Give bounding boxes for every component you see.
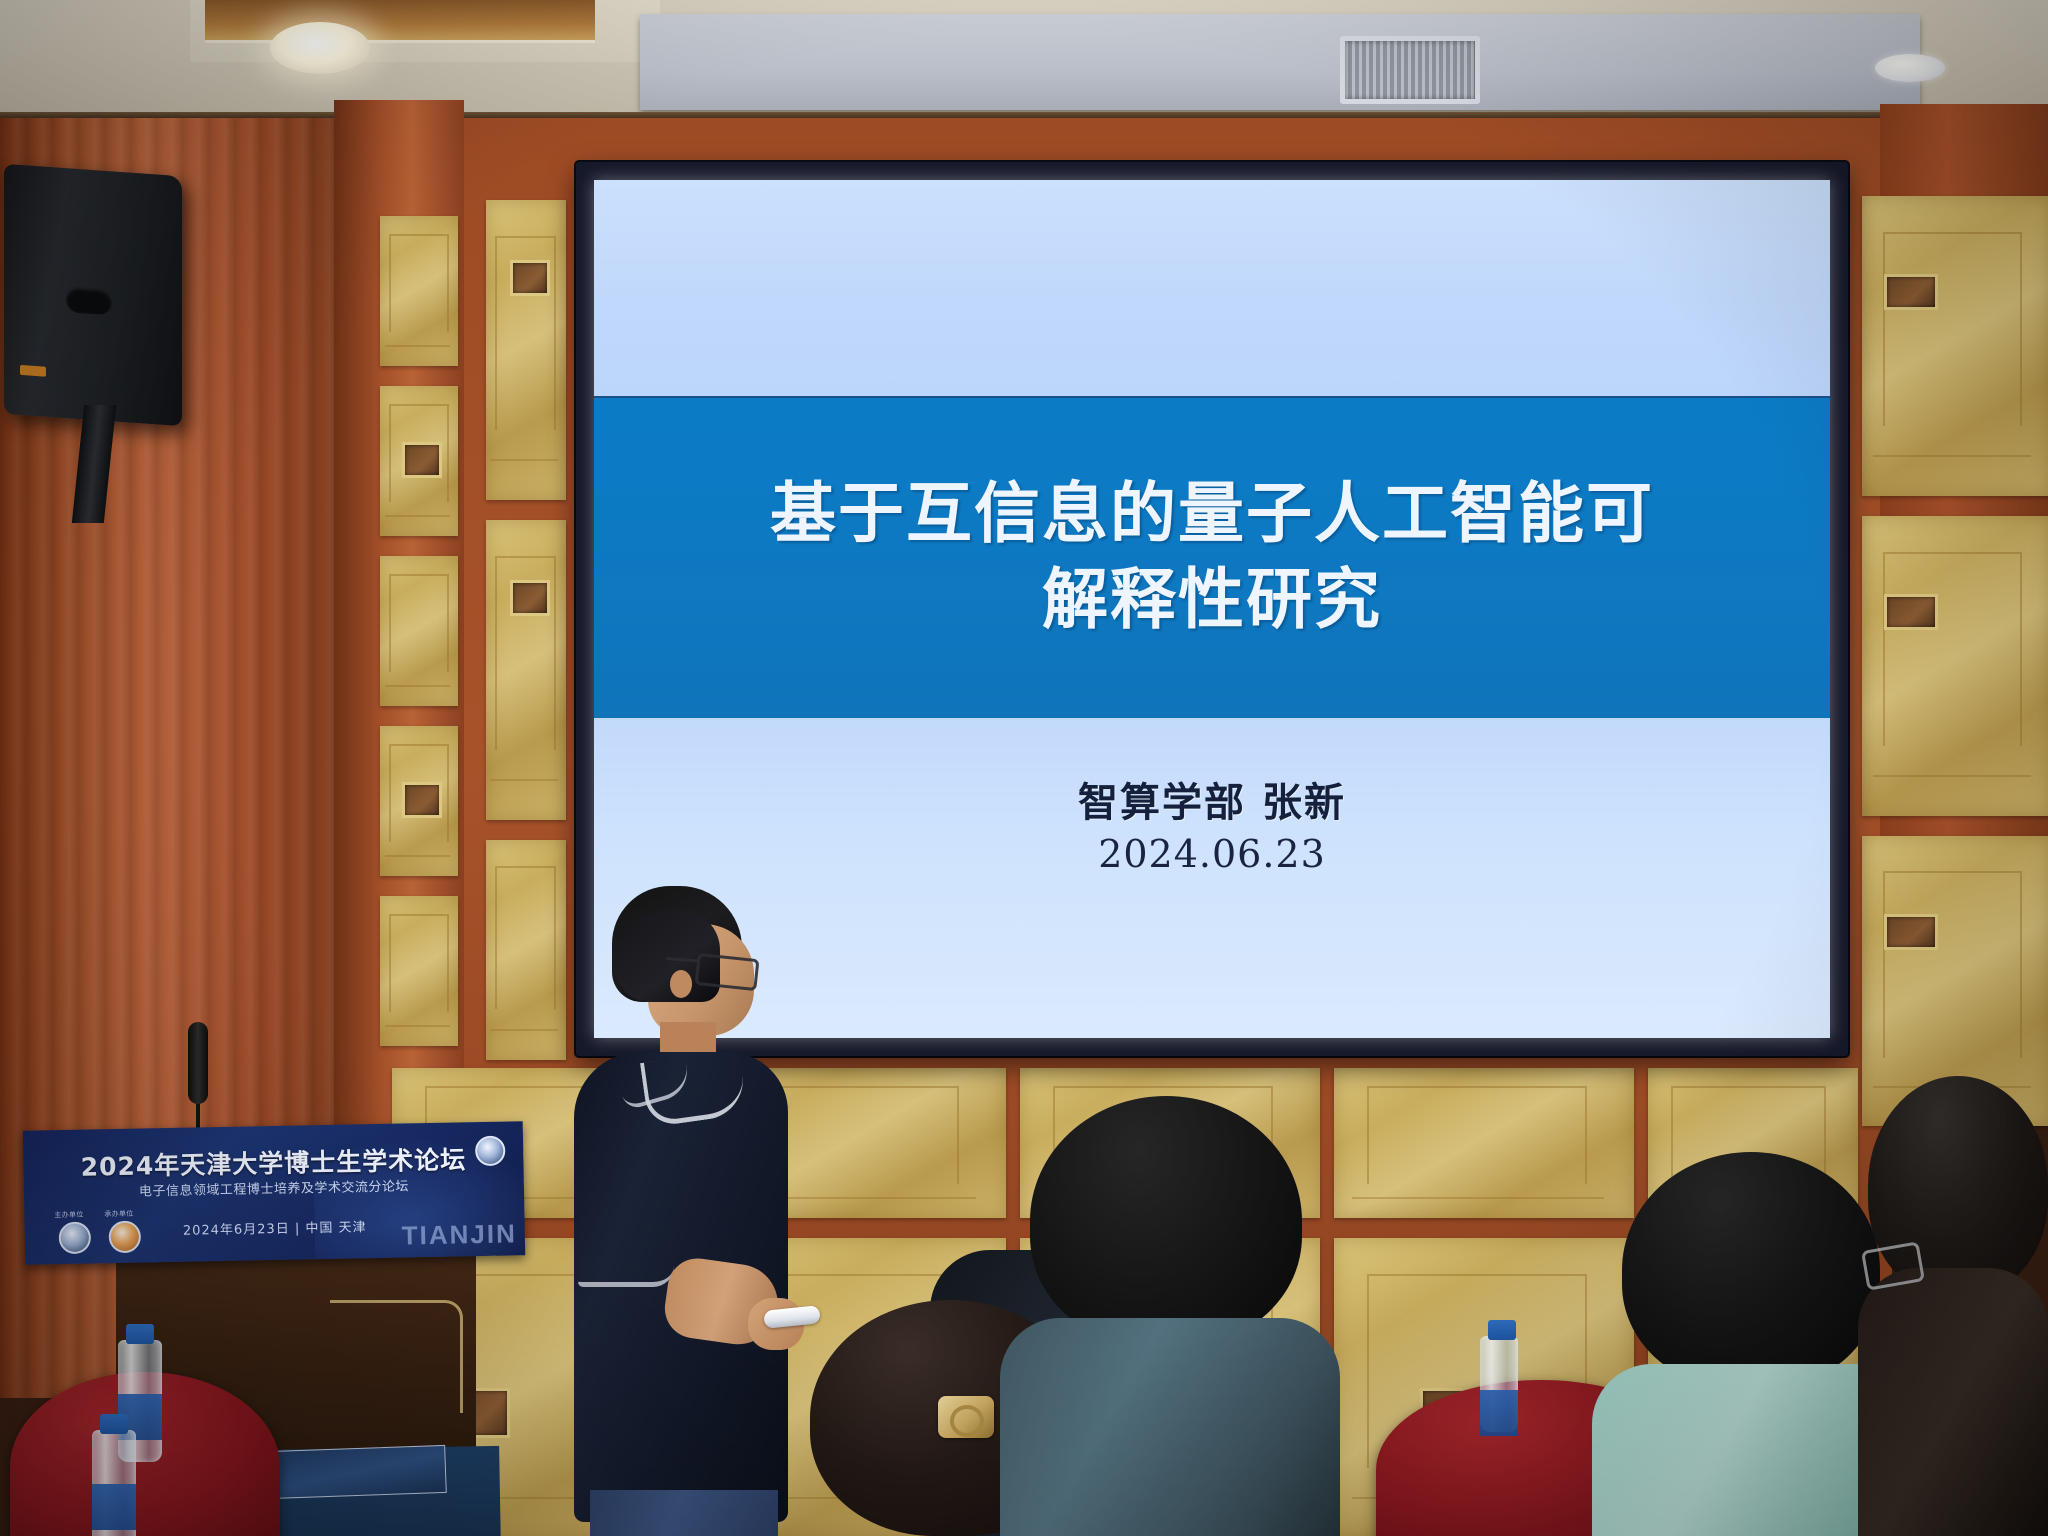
- ceiling-recess-trim: [205, 0, 595, 43]
- audience-member: [1858, 1076, 2048, 1536]
- gold-wall-panel: [380, 556, 458, 706]
- hair-clip-icon: [938, 1396, 994, 1438]
- conference-hall-photo: 基于互信息的量子人工智能可 解释性研究 智算学部 张新 2024.06.23 2…: [0, 0, 2048, 1536]
- gold-wall-panel: [1334, 1068, 1634, 1218]
- panel-inset-icon: [1884, 274, 1938, 310]
- ceiling-light-icon: [1875, 54, 1945, 82]
- banner-label-organizer: 主办单位: [54, 1210, 83, 1221]
- slide-title: 基于互信息的量子人工智能可 解释性研究: [594, 396, 1830, 718]
- event-banner: 2024年天津大学博士生学术论坛 电子信息领域工程博士培养及学术交流分论坛 20…: [23, 1121, 525, 1265]
- banner-label-host: 承办单位: [104, 1209, 133, 1220]
- presenter-sleeve-trim: [578, 1266, 674, 1287]
- banner-wordmark: TIANJIN: [401, 1218, 517, 1251]
- gold-wall-panel: [380, 216, 458, 366]
- host-logo-icon: [109, 1221, 142, 1254]
- slide-top-band: [594, 180, 1830, 396]
- presenter-ear: [670, 970, 692, 998]
- panel-inset-icon: [402, 442, 442, 478]
- speaker-handle: [66, 286, 112, 315]
- glasses-icon: [694, 953, 759, 991]
- audience-torso: [1000, 1318, 1340, 1536]
- audience-head: [1030, 1096, 1302, 1346]
- gold-wall-panel: [486, 200, 566, 500]
- panel-inset-icon: [510, 260, 550, 296]
- slide-date: 2024.06.23: [594, 832, 1830, 876]
- gold-wall-panel: [1862, 516, 2048, 816]
- slide-presenter: 智算学部 张新: [594, 770, 1830, 828]
- audience-member: [1000, 1096, 1340, 1536]
- university-logo-icon: [59, 1222, 92, 1255]
- ceiling-soffit-main: [640, 14, 1920, 110]
- panel-inset-icon: [402, 782, 442, 818]
- gold-wall-panel: [380, 726, 458, 876]
- panel-inset-icon: [1884, 594, 1938, 630]
- gold-wall-panel: [486, 520, 566, 820]
- pa-speaker-icon: [4, 164, 182, 426]
- speaker-led: [20, 365, 46, 377]
- panel-inset-icon: [510, 580, 550, 616]
- water-bottle-icon: [1480, 1336, 1518, 1432]
- gold-wall-panel: [1862, 196, 2048, 496]
- air-vent-icon: [1340, 36, 1480, 104]
- podium-ornament: [330, 1300, 463, 1413]
- presenter-person: [556, 880, 826, 1536]
- microphone-icon: [188, 1022, 208, 1104]
- panel-inset-icon: [1884, 914, 1938, 950]
- audience-head: [1622, 1152, 1880, 1388]
- slide-title-line-2: 解释性研究: [1042, 557, 1382, 643]
- gold-wall-panel: [380, 386, 458, 536]
- gold-wall-panel: [486, 840, 566, 1060]
- slide-title-line-1: 基于互信息的量子人工智能可: [770, 471, 1654, 557]
- table-document: [267, 1445, 447, 1499]
- audience-torso: [1858, 1268, 2048, 1536]
- water-bottle-icon: [92, 1430, 136, 1536]
- gold-wall-panel: [380, 896, 458, 1046]
- presenter-jeans: [590, 1490, 778, 1536]
- ceiling-downlight-icon: [270, 22, 370, 74]
